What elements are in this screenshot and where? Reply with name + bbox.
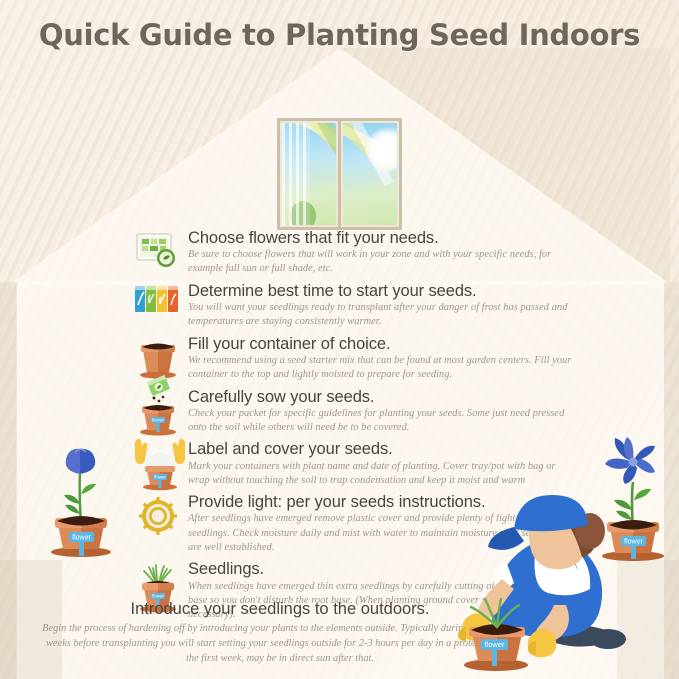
svg-text:flower: flower	[72, 535, 91, 542]
sunlit-window-icon	[277, 118, 402, 230]
seed-packets-icon	[133, 283, 183, 333]
step-item: Determine best time to start your seeds.…	[133, 281, 573, 330]
step-item: Fill your container of choice. We recomm…	[133, 334, 573, 383]
step-body: Be sure to choose flowers that will work…	[188, 248, 573, 277]
step-body: Mark your containers with plant name and…	[188, 460, 573, 489]
covered-pot-gloves-icon: flower	[133, 435, 183, 491]
page-title: Quick Guide to Planting Seed Indoors	[0, 18, 679, 52]
svg-text:flower: flower	[154, 475, 166, 480]
step-body: Check your packet for specific guideline…	[188, 407, 573, 436]
window-panes	[280, 121, 399, 227]
window-pane-left	[280, 121, 338, 227]
window-blinds	[282, 123, 310, 225]
sun-glow-icon	[365, 127, 399, 173]
infographic-poster: Quick Guide to Planting Seed Indoors	[0, 0, 679, 679]
step-item: Choose flowers that fit your needs. Be s…	[133, 228, 573, 277]
step-body: You will want your seedlings ready to tr…	[188, 301, 573, 330]
step-body: We recommend using a seed starter mix th…	[188, 354, 573, 383]
step-heading: Label and cover your seeds.	[188, 439, 573, 459]
sun-light-icon	[133, 496, 183, 546]
step-heading: Carefully sow your seeds.	[188, 387, 573, 407]
step-heading: Determine best time to start your seeds.	[188, 281, 573, 301]
seed-catalog-icon	[133, 230, 183, 280]
cap-brim	[488, 527, 524, 550]
step-item: flower Label and cover your seeds. Mark …	[133, 439, 573, 488]
svg-text:flower: flower	[152, 594, 164, 599]
step-heading: Choose flowers that fit your needs.	[188, 228, 573, 248]
sowing-seeds-icon: flower	[133, 375, 183, 437]
gardener-cap	[514, 495, 588, 531]
kneeling-gardener-illustration: flower	[440, 487, 679, 679]
svg-text:flower: flower	[484, 640, 505, 649]
svg-text:flower: flower	[152, 417, 164, 422]
left-potted-plant: flower	[38, 408, 124, 563]
window-pane-right	[341, 121, 399, 227]
step-heading: Fill your container of choice.	[188, 334, 573, 354]
step-item: flower Carefully sow your seeds. Check y…	[133, 387, 573, 436]
